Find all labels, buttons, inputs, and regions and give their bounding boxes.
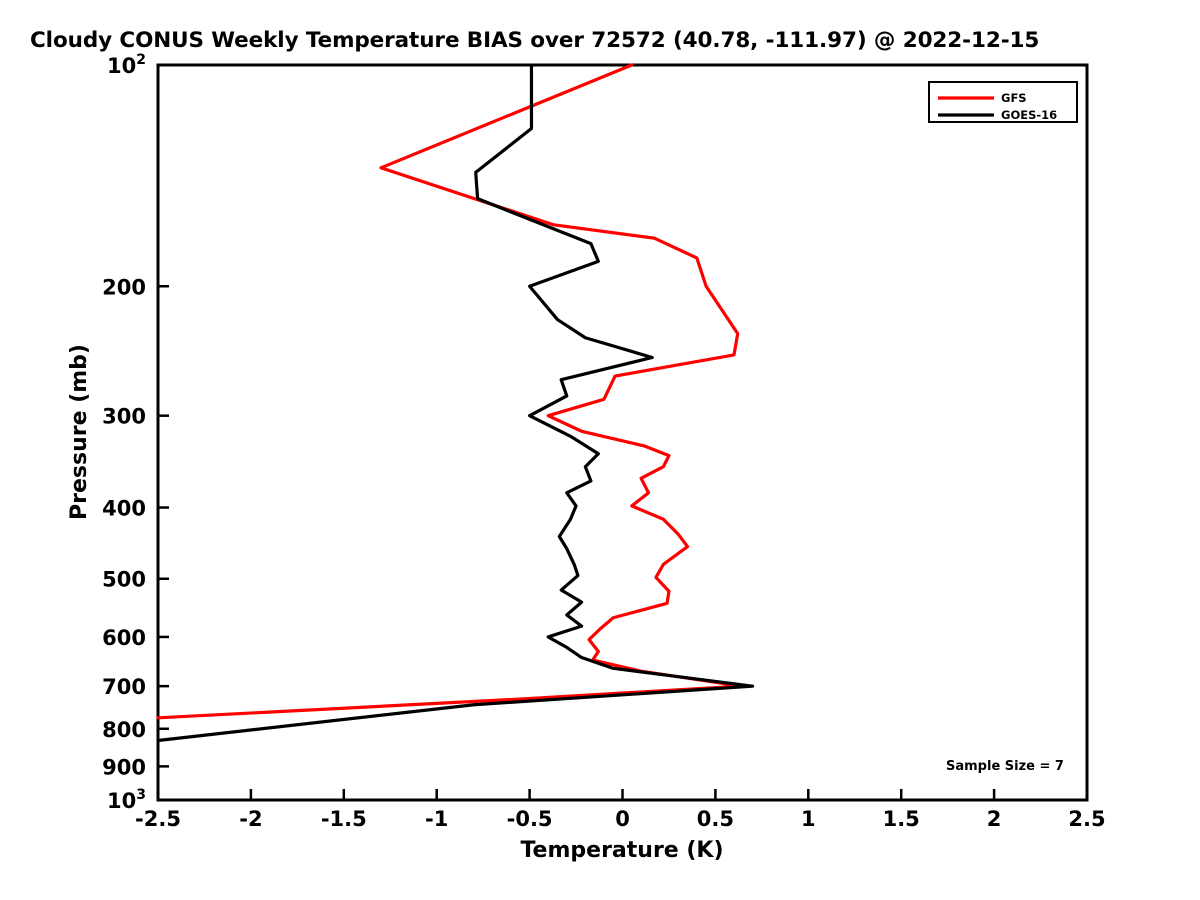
y-tick-label: 102 — [107, 52, 146, 78]
legend-label-goes-16: GOES-16 — [1001, 108, 1057, 122]
y-tick-label: 600 — [102, 626, 146, 650]
sample-size-annotation: Sample Size = 7 — [946, 759, 1064, 774]
data-series-group — [158, 65, 753, 741]
y-tick-label: 300 — [102, 405, 146, 429]
x-tick-label: -2.5 — [135, 807, 181, 831]
x-tick-label: -1.5 — [321, 807, 367, 831]
y-tick-label: 700 — [102, 675, 146, 699]
x-axis-title: Temperature (K) — [520, 838, 723, 863]
x-tick-label: 2 — [987, 807, 1002, 831]
chart-page: Cloudy CONUS Weekly Temperature BIAS ove… — [0, 0, 1200, 900]
y-tick-label: 400 — [102, 497, 146, 521]
y-tick-label: 200 — [102, 275, 146, 299]
x-tick-label: -2 — [239, 807, 262, 831]
x-tick-label: 0 — [615, 807, 630, 831]
series-line-goes-16 — [158, 65, 753, 741]
x-tick-label: 2.5 — [1068, 807, 1105, 831]
x-tick-label: 1.5 — [883, 807, 920, 831]
legend-label-gfs: GFS — [1001, 91, 1027, 105]
x-tick-label: -1 — [425, 807, 448, 831]
series-line-gfs — [158, 65, 741, 718]
plot-frame-border — [158, 65, 1087, 800]
legend[interactable]: GFSGOES-16 — [929, 82, 1077, 122]
y-tick-label: 900 — [102, 755, 146, 779]
x-axis-ticks: -2.5-2-1.5-1-0.500.511.522.5 — [135, 789, 1106, 831]
chart-plot-area: -2.5-2-1.5-1-0.500.511.522.5 10220030040… — [0, 0, 1200, 900]
x-tick-label: 1 — [801, 807, 816, 831]
y-axis-title: Pressure (mb) — [67, 344, 92, 520]
x-tick-label: -0.5 — [507, 807, 553, 831]
x-tick-label: 0.5 — [697, 807, 734, 831]
y-tick-label: 500 — [102, 568, 146, 592]
y-tick-label: 800 — [102, 718, 146, 742]
